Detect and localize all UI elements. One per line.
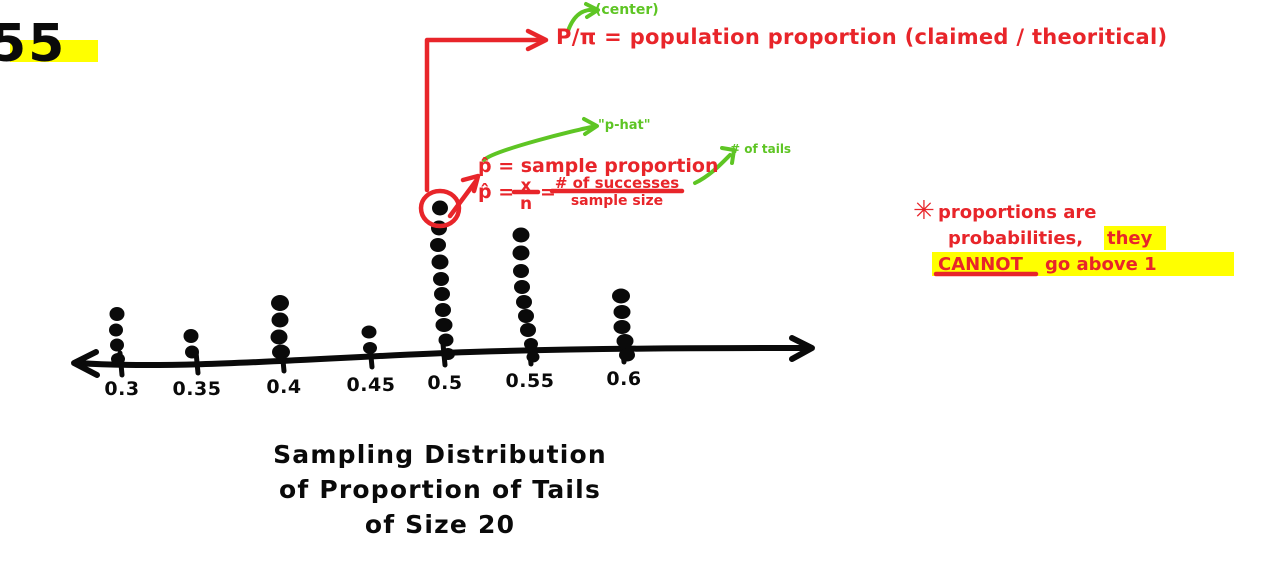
dot-stack-0.45: [362, 326, 378, 355]
dot-stack-0.55: [513, 228, 540, 363]
note-line-2-plain: probabilities,: [948, 228, 1083, 249]
note-cannot-underlined: CANNOT: [938, 254, 1023, 275]
axis-tick-label-5: 0.55: [491, 370, 569, 392]
axis-tick-label-2: 0.4: [252, 376, 316, 398]
page-number: 55: [0, 14, 66, 74]
dot-stack-0.35: [184, 329, 200, 359]
handwritten-notes-canvas: 55 (center) P/π = population proportion …: [0, 0, 1285, 584]
axis-tick-label-1: 0.35: [158, 378, 236, 400]
axis-tick-label-3: 0.45: [332, 374, 410, 396]
fraction-numerator-successes: # of successes: [553, 174, 681, 192]
center-annotation-label: (center): [595, 2, 659, 18]
caption-line-1: Sampling Distribution: [140, 440, 740, 469]
p-hat-name-label: "p-hat": [598, 118, 651, 133]
dot-stack-0.3: [109, 307, 125, 365]
fraction-denominator-n: n: [515, 194, 537, 214]
axis-tick-label-6: 0.6: [592, 368, 656, 390]
note-line-1: proportions are: [938, 202, 1096, 223]
population-proportion-definition: P/π = population proportion (claimed / t…: [556, 25, 1167, 49]
fraction-numerator-x: x: [515, 176, 537, 196]
number-of-tails-label: # of tails: [730, 142, 791, 156]
note-line-3-rest: go above 1: [1045, 254, 1157, 275]
caption-line-3: of Size 20: [140, 510, 740, 539]
dot-stack-0.4: [271, 295, 291, 360]
sample-proportion-formula-lhs: p̂ =: [478, 181, 514, 203]
axis-tick-label-0: 0.3: [90, 378, 154, 400]
star-icon: ✳: [913, 198, 935, 224]
note-line-2-highlighted: they: [1107, 228, 1152, 249]
fraction-denominator-sample-size: sample size: [553, 193, 681, 209]
axis-tick-label-4: 0.5: [413, 372, 477, 394]
caption-line-2: of Proportion of Tails: [140, 475, 740, 504]
